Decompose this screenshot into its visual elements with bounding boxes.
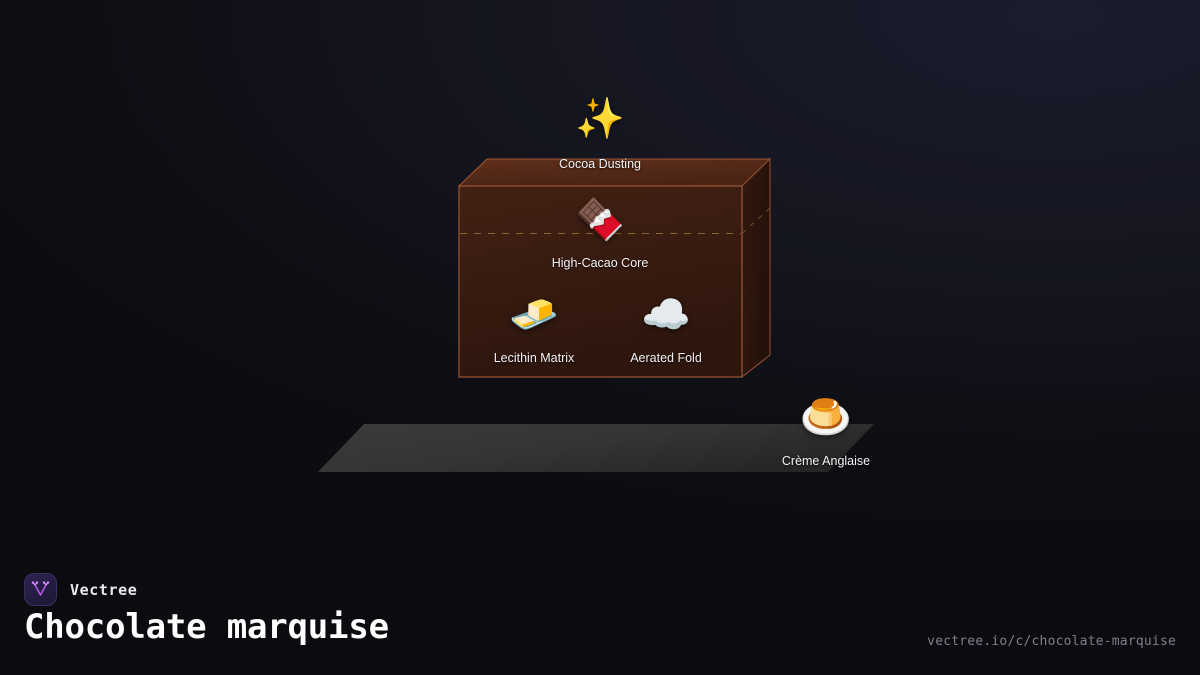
custard-icon: 🍮 — [800, 396, 852, 438]
screenshot-root: ✨ Cocoa Dusting 🍫 High-Cacao Core 🧈 Leci… — [0, 0, 1200, 675]
page-title: Chocolate marquise — [24, 609, 389, 646]
footer: Vectree Chocolate marquise vectree.io/c/… — [0, 557, 1200, 675]
footer-url: vectree.io/c/chocolate-marquise — [927, 634, 1176, 649]
vectree-branch-logo-icon — [24, 573, 57, 606]
brand-name: Vectree — [70, 581, 137, 599]
brand-row[interactable]: Vectree — [24, 573, 137, 606]
platform-top-face — [318, 424, 874, 472]
